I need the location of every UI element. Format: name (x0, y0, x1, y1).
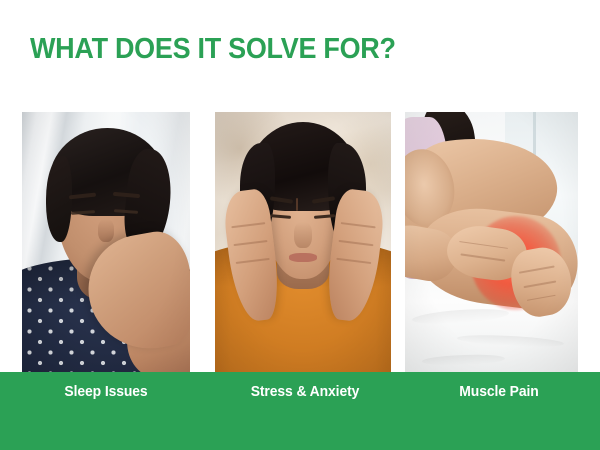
photo-stress-anxiety (215, 112, 391, 373)
label-stress-anxiety: Stress & Anxiety (216, 372, 395, 412)
label-sleep-issues: Sleep Issues (4, 372, 208, 412)
photo1-hair-left (46, 156, 73, 242)
photo2-mouth (289, 253, 317, 262)
photo-muscle-pain (405, 112, 578, 373)
label-muscle-pain: Muscle Pain (402, 372, 596, 412)
photo-card-stress-anxiety[interactable] (215, 112, 391, 373)
page-title: WHAT DOES IT SOLVE FOR? (30, 33, 396, 66)
slide-canvas: WHAT DOES IT SOLVE FOR? (0, 0, 600, 450)
photo-sleep-issues (22, 112, 190, 373)
photo-row (0, 112, 600, 373)
photo-card-muscle-pain[interactable] (405, 112, 578, 373)
photo2-brow-furrow (296, 198, 298, 211)
footer-label-row: Sleep Issues Stress & Anxiety Muscle Pai… (0, 372, 600, 412)
photo2-nose (294, 222, 312, 248)
photo-card-sleep-issues[interactable] (22, 112, 190, 373)
photo1-nose (98, 219, 115, 242)
